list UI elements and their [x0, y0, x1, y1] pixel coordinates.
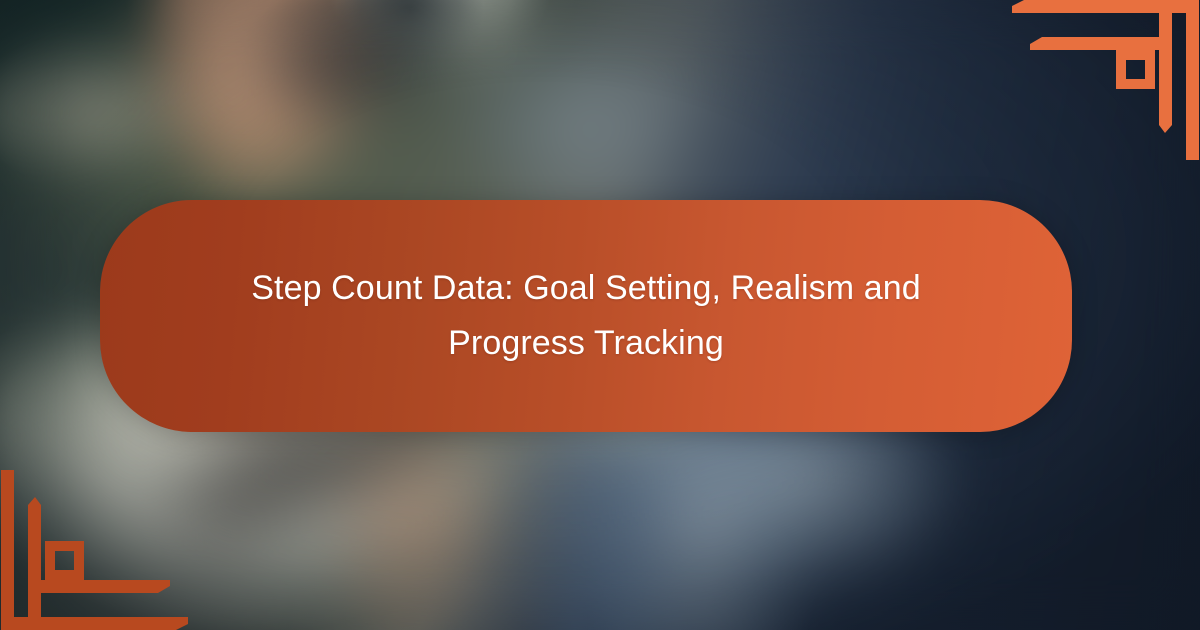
corner-ornament-bottom-left	[0, 470, 200, 630]
ornament-inner-horizontal-bar	[1030, 37, 1172, 50]
corner-ornament-bl-svg	[0, 470, 200, 630]
page-title: Step Count Data: Goal Setting, Realism a…	[206, 261, 966, 371]
ornament-inner-vertical-bar	[28, 497, 41, 624]
corner-ornament-tr-svg	[1000, 0, 1200, 160]
ornament-outer-vertical-bar	[1186, 0, 1199, 160]
ornament-small-square	[1116, 50, 1155, 89]
ornament-inner-horizontal-bar	[28, 580, 170, 593]
ornament-small-square	[45, 541, 84, 580]
title-banner: Step Count Data: Goal Setting, Realism a…	[100, 200, 1072, 432]
ornament-outer-vertical-bar	[1, 470, 14, 630]
corner-ornament-top-right	[1000, 0, 1200, 160]
share-card: Step Count Data: Goal Setting, Realism a…	[0, 0, 1200, 630]
ornament-inner-vertical-bar	[1159, 6, 1172, 133]
